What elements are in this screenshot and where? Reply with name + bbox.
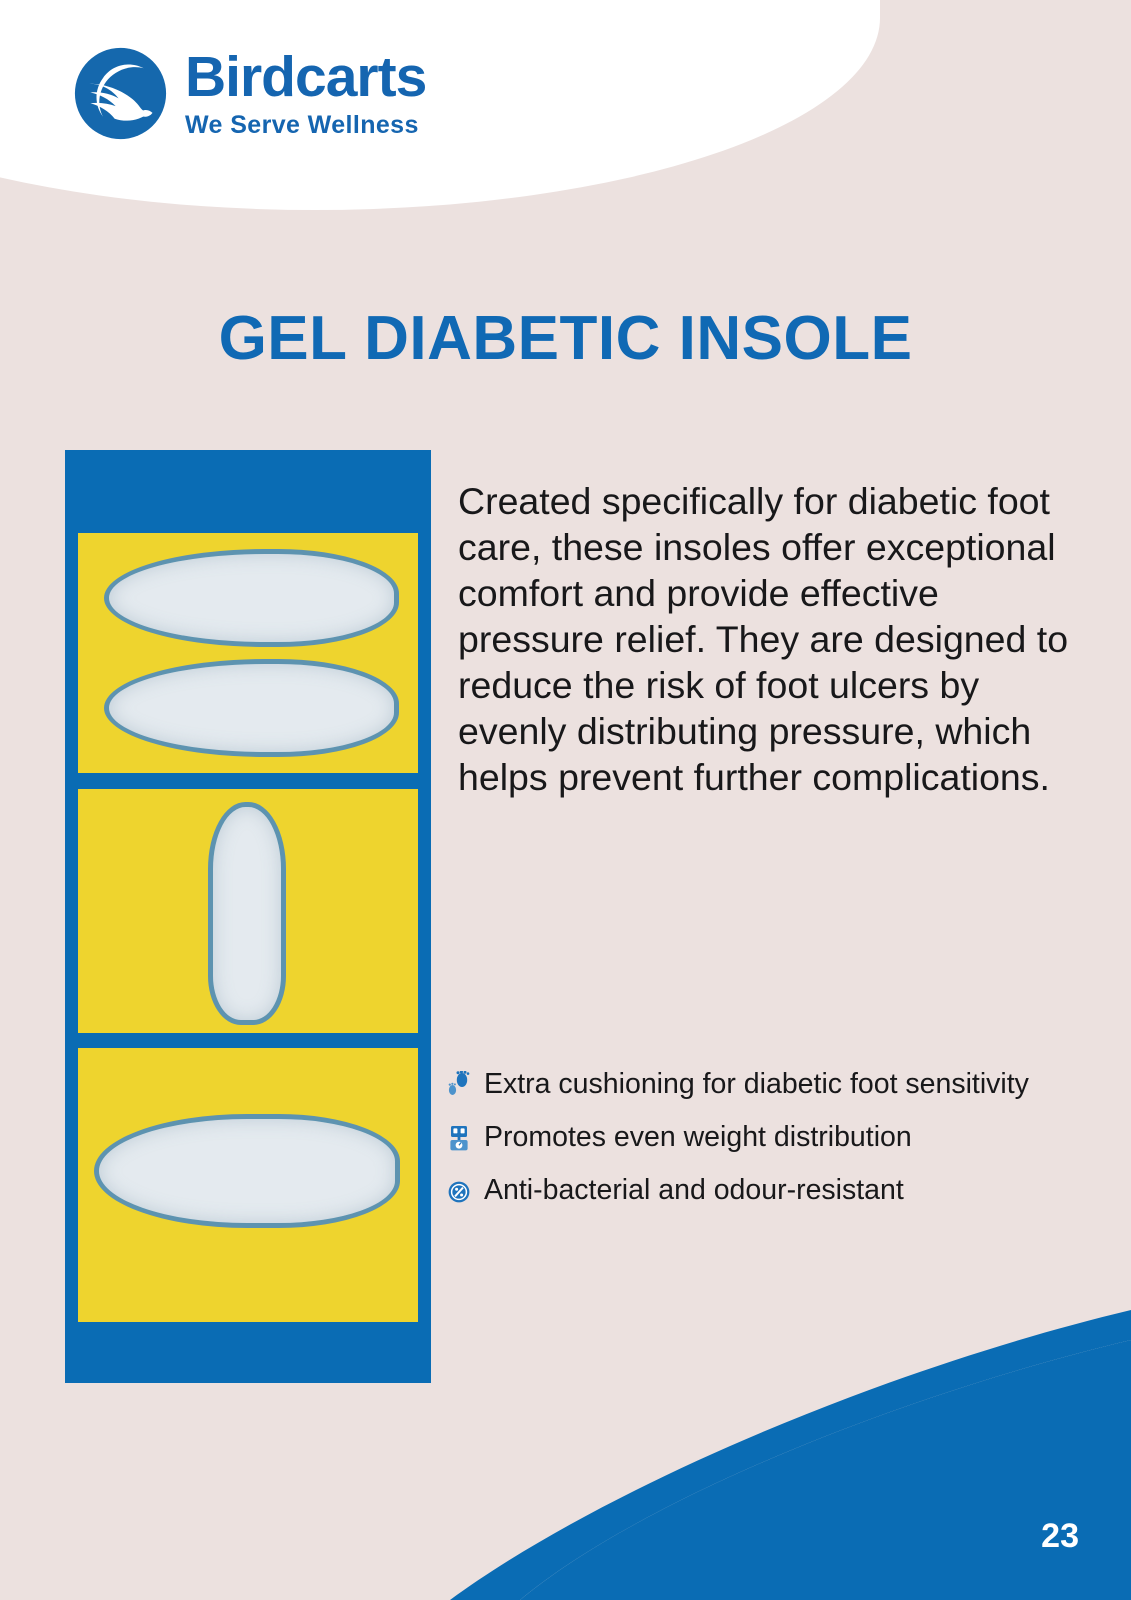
- brand-logo: Birdcarts We Serve Wellness: [72, 45, 426, 142]
- poster-page: Birdcarts We Serve Wellness GEL DIABETIC…: [0, 0, 1131, 1600]
- list-item-label: Promotes even weight distribution: [484, 1121, 912, 1154]
- list-item-label: Anti-bacterial and odour-resistant: [484, 1174, 904, 1207]
- anti-bacterial-shield-icon: [446, 1176, 472, 1206]
- list-item: Extra cushioning for diabetic foot sensi…: [446, 1068, 1096, 1101]
- insole-shape: [208, 802, 286, 1025]
- page-number: 23: [1041, 1517, 1079, 1556]
- product-photo-single-vertical: [78, 789, 418, 1033]
- list-item-label: Extra cushioning for diabetic foot sensi…: [484, 1068, 1029, 1101]
- brand-name: Birdcarts: [185, 49, 426, 106]
- feature-list: Extra cushioning for diabetic foot sensi…: [446, 1068, 1096, 1227]
- product-description: Created specifically for diabetic foot c…: [458, 478, 1080, 800]
- page-title: GEL DIABETIC INSOLE: [0, 303, 1131, 374]
- product-photo-pair-horizontal: [78, 533, 418, 773]
- product-image-panel: [65, 450, 431, 1383]
- list-item: Promotes even weight distribution: [446, 1121, 1096, 1154]
- insole-shape: [104, 549, 399, 647]
- insole-shape: [104, 659, 399, 757]
- bird-in-circle-logo-icon: [72, 45, 169, 142]
- brand-tagline: We Serve Wellness: [185, 113, 426, 138]
- product-photo-single-horizontal: [78, 1048, 418, 1322]
- footer-wave-decoration: [0, 1300, 1131, 1600]
- footprints-icon: [446, 1070, 472, 1100]
- list-item: Anti-bacterial and odour-resistant: [446, 1174, 1096, 1207]
- weight-scale-icon: [446, 1123, 472, 1153]
- insole-shape: [94, 1114, 400, 1228]
